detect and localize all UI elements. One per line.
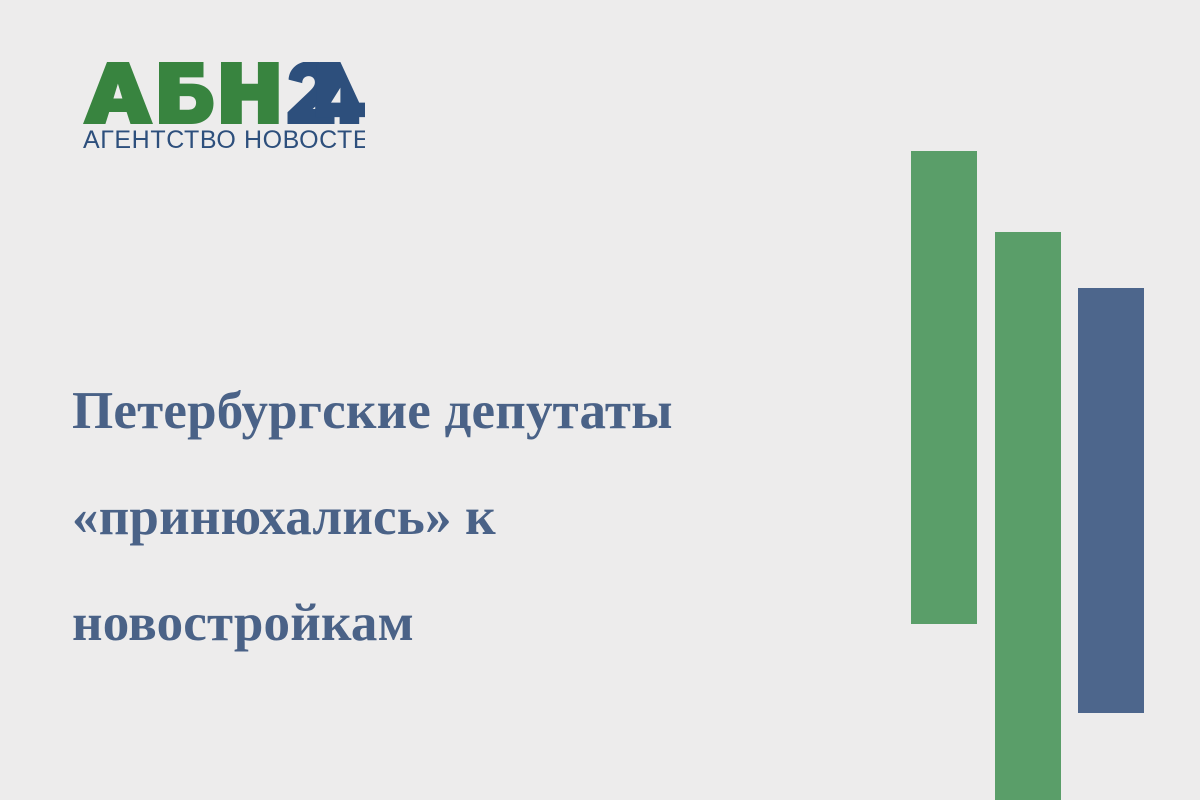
brand-tagline-icon: АГЕНТСТВО НОВОСТЕЙ <box>83 126 365 156</box>
news-card: АГЕНТСТВО НОВОСТЕЙ Петербургские депутат… <box>0 0 1200 800</box>
headline-line-1: Петербургские депутаты <box>72 358 872 464</box>
headline: Петербургские депутаты «принюхались» к н… <box>72 358 872 676</box>
headline-line-3: новостройкам <box>72 570 872 676</box>
brand-tagline-text: АГЕНТСТВО НОВОСТЕЙ <box>83 126 365 154</box>
brand-logo: АГЕНТСТВО НОВОСТЕЙ <box>83 62 373 156</box>
decorative-bar-2 <box>995 232 1061 800</box>
decorative-bar-3 <box>1078 288 1144 713</box>
decorative-bar-1 <box>911 151 977 624</box>
headline-line-2: «принюхались» к <box>72 464 872 570</box>
abn24-logo-icon <box>83 62 365 124</box>
